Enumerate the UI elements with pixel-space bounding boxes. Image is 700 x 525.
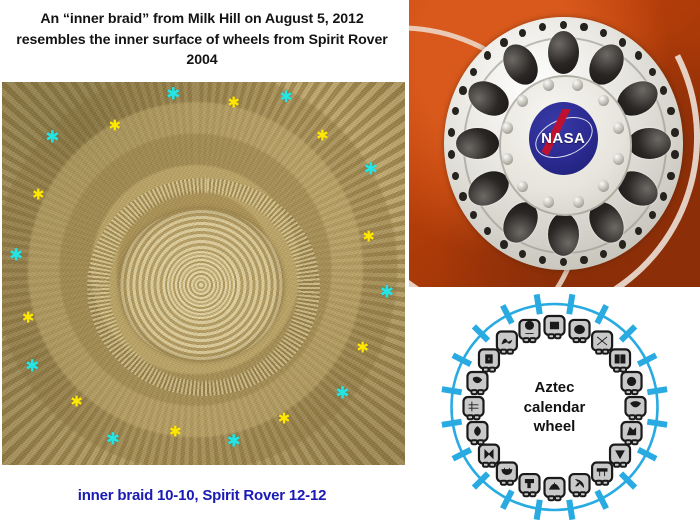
aztec-center-label: Aztec calendar wheel xyxy=(495,378,615,437)
wheel-rivet xyxy=(600,250,607,259)
wheel-rivet xyxy=(667,107,674,116)
crop-marker-cyan: ✱ xyxy=(335,386,349,403)
wheel-rivet xyxy=(600,29,607,38)
aztec-glyph-box xyxy=(479,349,499,368)
aztec-glyph-foot xyxy=(596,481,602,485)
crop-marker-cyan: ✱ xyxy=(279,89,292,105)
aztec-glyph-foot xyxy=(471,390,477,394)
wheel-rivet xyxy=(560,21,567,30)
crop-grain-overlay xyxy=(2,82,405,465)
aztec-glyph-foot xyxy=(501,350,507,354)
wheel-rivet xyxy=(452,172,459,181)
wheel-hole xyxy=(628,128,671,159)
aztec-day-glyph xyxy=(545,478,565,500)
aztec-glyph-motif xyxy=(550,322,558,329)
crop-marker-yellow: ✱ xyxy=(362,230,375,245)
poster-canvas: An “inner braid” from Milk Hill on Augus… xyxy=(0,0,700,525)
wheel-rivet xyxy=(635,51,642,60)
page-title-text: An “inner braid” from Milk Hill on Augus… xyxy=(0,9,404,70)
aztec-glyph-foot xyxy=(580,492,586,496)
crop-marker-yellow: ✱ xyxy=(109,119,122,134)
aztec-day-glyph xyxy=(479,445,499,467)
wheel-bolt xyxy=(613,153,624,165)
aztec-calendar-wheel: Aztec calendar wheel xyxy=(409,289,700,525)
aztec-glyph-foot xyxy=(483,463,489,467)
wheel-bolt xyxy=(517,95,528,107)
aztec-day-glyph xyxy=(570,320,590,342)
aztec-glyph-foot xyxy=(614,463,620,467)
aztec-glyph-foot xyxy=(530,338,536,342)
crop-marker-yellow: ✱ xyxy=(278,412,291,427)
aztec-day-glyph xyxy=(519,320,539,342)
aztec-day-glyph xyxy=(467,372,487,394)
crop-marker-yellow: ✱ xyxy=(70,394,83,409)
wheel-bolt xyxy=(573,196,584,208)
aztec-center-line-2: calendar xyxy=(495,397,615,417)
rover-wheel-photo: NASA xyxy=(409,0,700,287)
aztec-glyph-foot xyxy=(507,350,513,354)
crop-marker-yellow: ✱ xyxy=(316,128,329,143)
aztec-glyph-foot xyxy=(632,440,638,444)
wheel-rivet xyxy=(484,227,491,236)
aztec-glyph-box xyxy=(592,463,612,482)
wheel-rivet xyxy=(671,128,678,137)
aztec-glyph-foot xyxy=(474,415,480,419)
aztec-glyph-motif xyxy=(627,377,635,385)
figure-caption: inner braid 10-10, Spirit Rover 12-12 xyxy=(0,466,404,525)
crop-marker-yellow: ✱ xyxy=(169,425,182,440)
aztec-day-glyph xyxy=(519,474,539,496)
aztec-glyph-foot xyxy=(489,463,495,467)
nasa-logo-text: NASA xyxy=(529,130,598,147)
crop-marker-cyan: ✱ xyxy=(380,284,394,301)
crop-circle-photo: ✱✱✱✱✱✱✱✱✱✱✱✱✱✱✱✱✱✱✱✱ xyxy=(2,82,405,465)
wheel-rivet xyxy=(500,38,507,47)
wheel-rivet xyxy=(619,38,626,47)
aztec-glyph-foot xyxy=(630,415,636,419)
aztec-center-line-1: Aztec xyxy=(495,378,615,398)
crop-marker-yellow: ✱ xyxy=(227,96,240,111)
aztec-day-glyph xyxy=(592,331,612,353)
crop-marker-yellow: ✱ xyxy=(22,310,35,325)
wheel-hole xyxy=(456,128,499,159)
aztec-center-line-3: wheel xyxy=(495,417,615,437)
aztec-glyph-foot xyxy=(555,496,561,500)
wheel-hole xyxy=(548,31,579,74)
aztec-day-glyph xyxy=(610,349,630,371)
aztec-day-glyph xyxy=(626,397,646,419)
wheel-bolt xyxy=(613,122,624,134)
aztec-glyph-foot xyxy=(489,368,495,372)
wheel-rivet xyxy=(470,68,477,77)
aztec-glyph-foot xyxy=(478,440,484,444)
wheel-rivet xyxy=(459,192,466,201)
aztec-glyph-foot xyxy=(636,415,642,419)
wheel-rivet xyxy=(667,172,674,181)
crop-marker-cyan: ✱ xyxy=(106,432,120,449)
aztec-day-glyph xyxy=(464,397,484,419)
wheel-rivet xyxy=(619,240,626,249)
aztec-glyph-foot xyxy=(471,440,477,444)
crop-marker-cyan: ✱ xyxy=(9,248,23,265)
aztec-day-glyph xyxy=(479,349,499,371)
wheel-hub: NASA xyxy=(444,17,683,270)
aztec-glyph-foot xyxy=(603,481,609,485)
wheel-rivet xyxy=(459,86,466,95)
figure-caption-text: inner braid 10-10, Spirit Rover 12-12 xyxy=(78,487,327,504)
aztec-glyph-box xyxy=(610,349,630,368)
wheel-rivet xyxy=(580,23,587,32)
wheel-rivet xyxy=(519,29,526,38)
aztec-glyph-foot xyxy=(603,350,609,354)
wheel-rivet xyxy=(470,211,477,220)
crop-marker-cyan: ✱ xyxy=(166,87,180,104)
wheel-rivet xyxy=(539,23,546,32)
aztec-glyph-foot xyxy=(621,463,627,467)
wheel-rivet xyxy=(660,86,667,95)
crop-marker-yellow: ✱ xyxy=(32,187,45,202)
aztec-day-glyph xyxy=(545,316,565,338)
crop-marker-cyan: ✱ xyxy=(227,434,241,451)
crop-marker-cyan: ✱ xyxy=(25,359,39,376)
wheel-rivet xyxy=(519,250,526,259)
crop-marker-cyan: ✱ xyxy=(45,129,59,146)
aztec-glyph-foot xyxy=(523,338,529,342)
aztec-glyph-foot xyxy=(574,338,580,342)
aztec-glyph-foot xyxy=(555,334,561,338)
wheel-rivet xyxy=(448,128,455,137)
wheel-rivet xyxy=(500,240,507,249)
wheel-rivet xyxy=(649,211,656,220)
wheel-hole xyxy=(548,213,579,256)
wheel-rivet xyxy=(560,258,567,267)
aztec-day-glyph xyxy=(610,445,630,467)
wheel-rivet xyxy=(660,192,667,201)
wheel-rivet xyxy=(448,150,455,159)
crop-marker-cyan: ✱ xyxy=(364,162,378,179)
wheel-rivet xyxy=(484,51,491,60)
aztec-day-glyph xyxy=(570,474,590,496)
aztec-glyph-foot xyxy=(614,368,620,372)
wheel-bolt xyxy=(543,196,554,208)
crop-marker-yellow: ✱ xyxy=(356,341,369,356)
aztec-glyph-foot xyxy=(549,496,555,500)
wheel-bolt xyxy=(502,122,513,134)
nasa-logo: NASA xyxy=(529,102,598,175)
wheel-rivet xyxy=(539,256,546,265)
aztec-glyph-foot xyxy=(468,415,474,419)
aztec-glyph-foot xyxy=(483,368,489,372)
page-title: An “inner braid” from Milk Hill on Augus… xyxy=(0,2,404,78)
wheel-rivet xyxy=(452,107,459,116)
wheel-bolt xyxy=(543,79,554,91)
aztec-glyph-foot xyxy=(574,492,580,496)
aztec-glyph-motif xyxy=(575,325,585,333)
wheel-rivet xyxy=(649,68,656,77)
aztec-glyph-box xyxy=(464,397,484,416)
wheel-rivet xyxy=(635,227,642,236)
aztec-glyph-foot xyxy=(549,334,555,338)
aztec-glyph-foot xyxy=(632,390,638,394)
aztec-day-glyph xyxy=(497,331,517,353)
aztec-day-glyph xyxy=(622,422,642,444)
aztec-day-glyph xyxy=(497,463,517,485)
aztec-day-glyph xyxy=(467,422,487,444)
aztec-day-glyph xyxy=(592,463,612,485)
aztec-glyph-foot xyxy=(580,338,586,342)
wheel-rivet xyxy=(671,150,678,159)
aztec-glyph-foot xyxy=(626,390,632,394)
aztec-glyph-foot xyxy=(501,481,507,485)
aztec-glyph-foot xyxy=(523,492,529,496)
aztec-day-glyph xyxy=(622,372,642,394)
wheel-rivet xyxy=(580,256,587,265)
aztec-glyph-foot xyxy=(478,390,484,394)
aztec-glyph-foot xyxy=(507,481,513,485)
aztec-glyph-foot xyxy=(596,350,602,354)
aztec-glyph-foot xyxy=(530,492,536,496)
